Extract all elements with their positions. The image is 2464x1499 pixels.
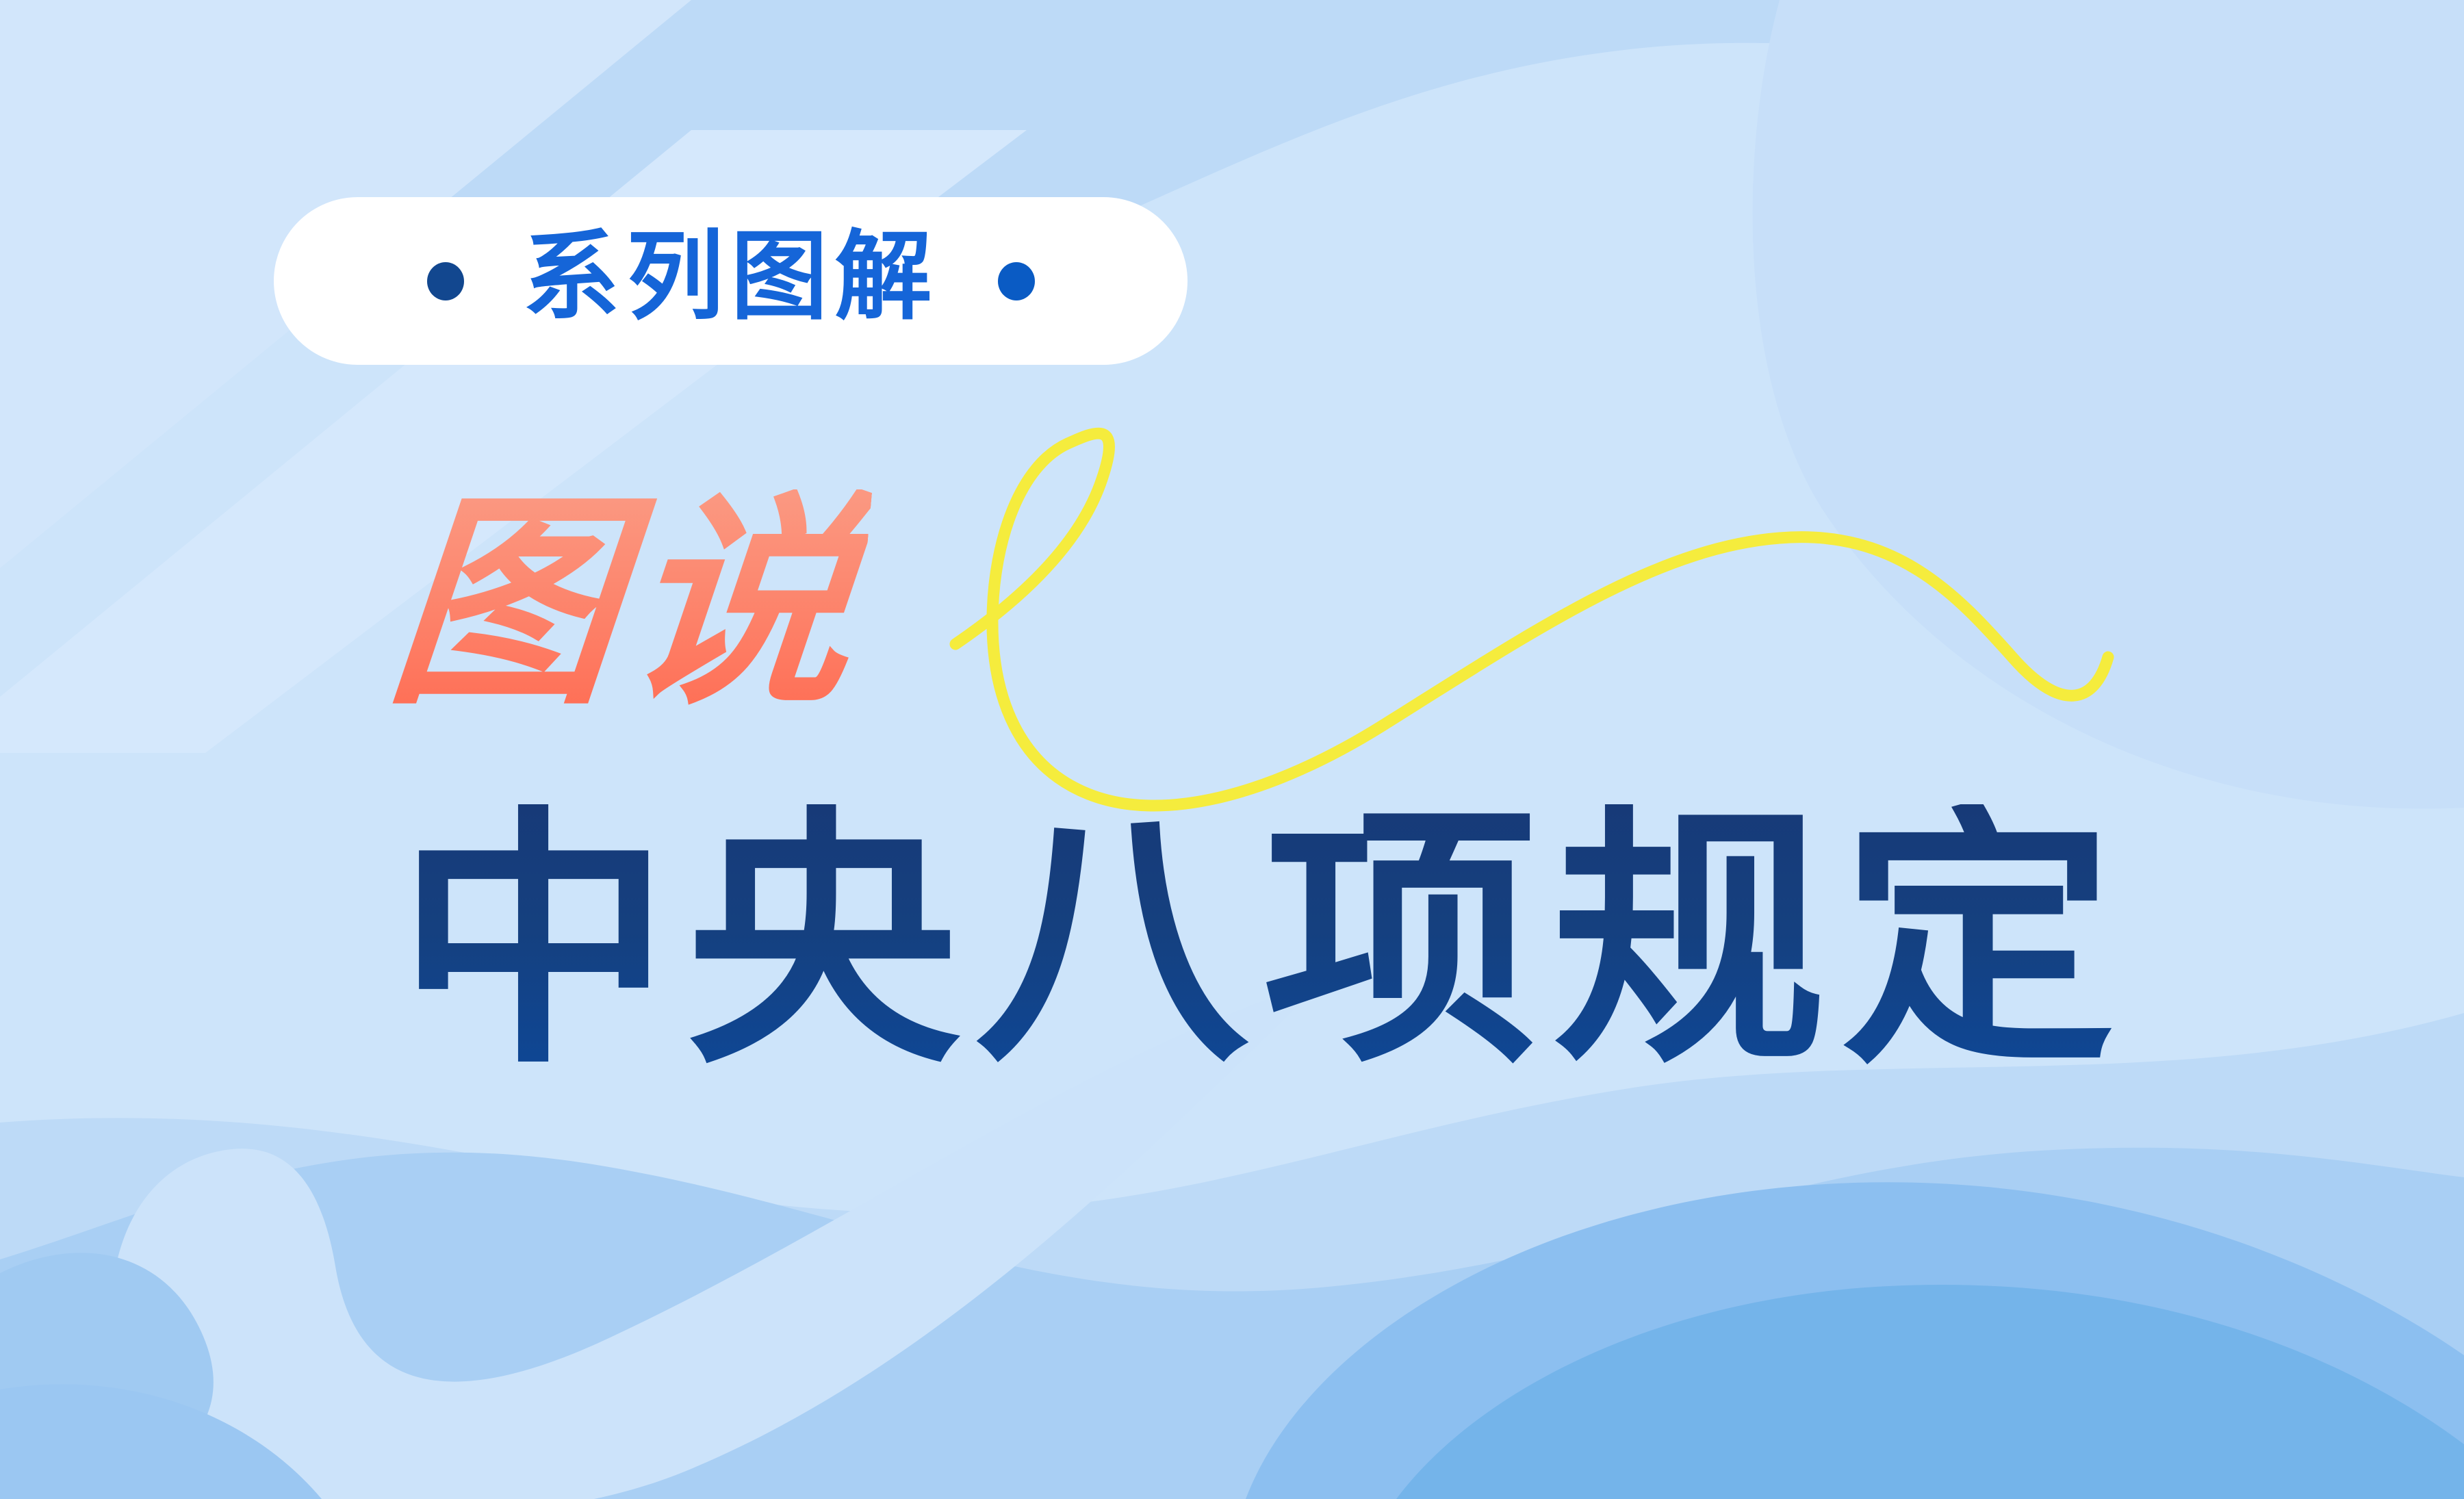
page-title: 中央八项规定 [397,804,2130,1078]
series-badge: 系列图解 [274,197,1188,365]
bullet-dot-icon [998,262,1035,300]
series-badge-label: 系列图解 [523,229,939,326]
bullet-dot-icon [427,262,464,300]
poster-canvas: 系列图解 图说 中央八项规定 [0,0,2464,1499]
script-word-tushuo: 图说 [382,489,873,715]
